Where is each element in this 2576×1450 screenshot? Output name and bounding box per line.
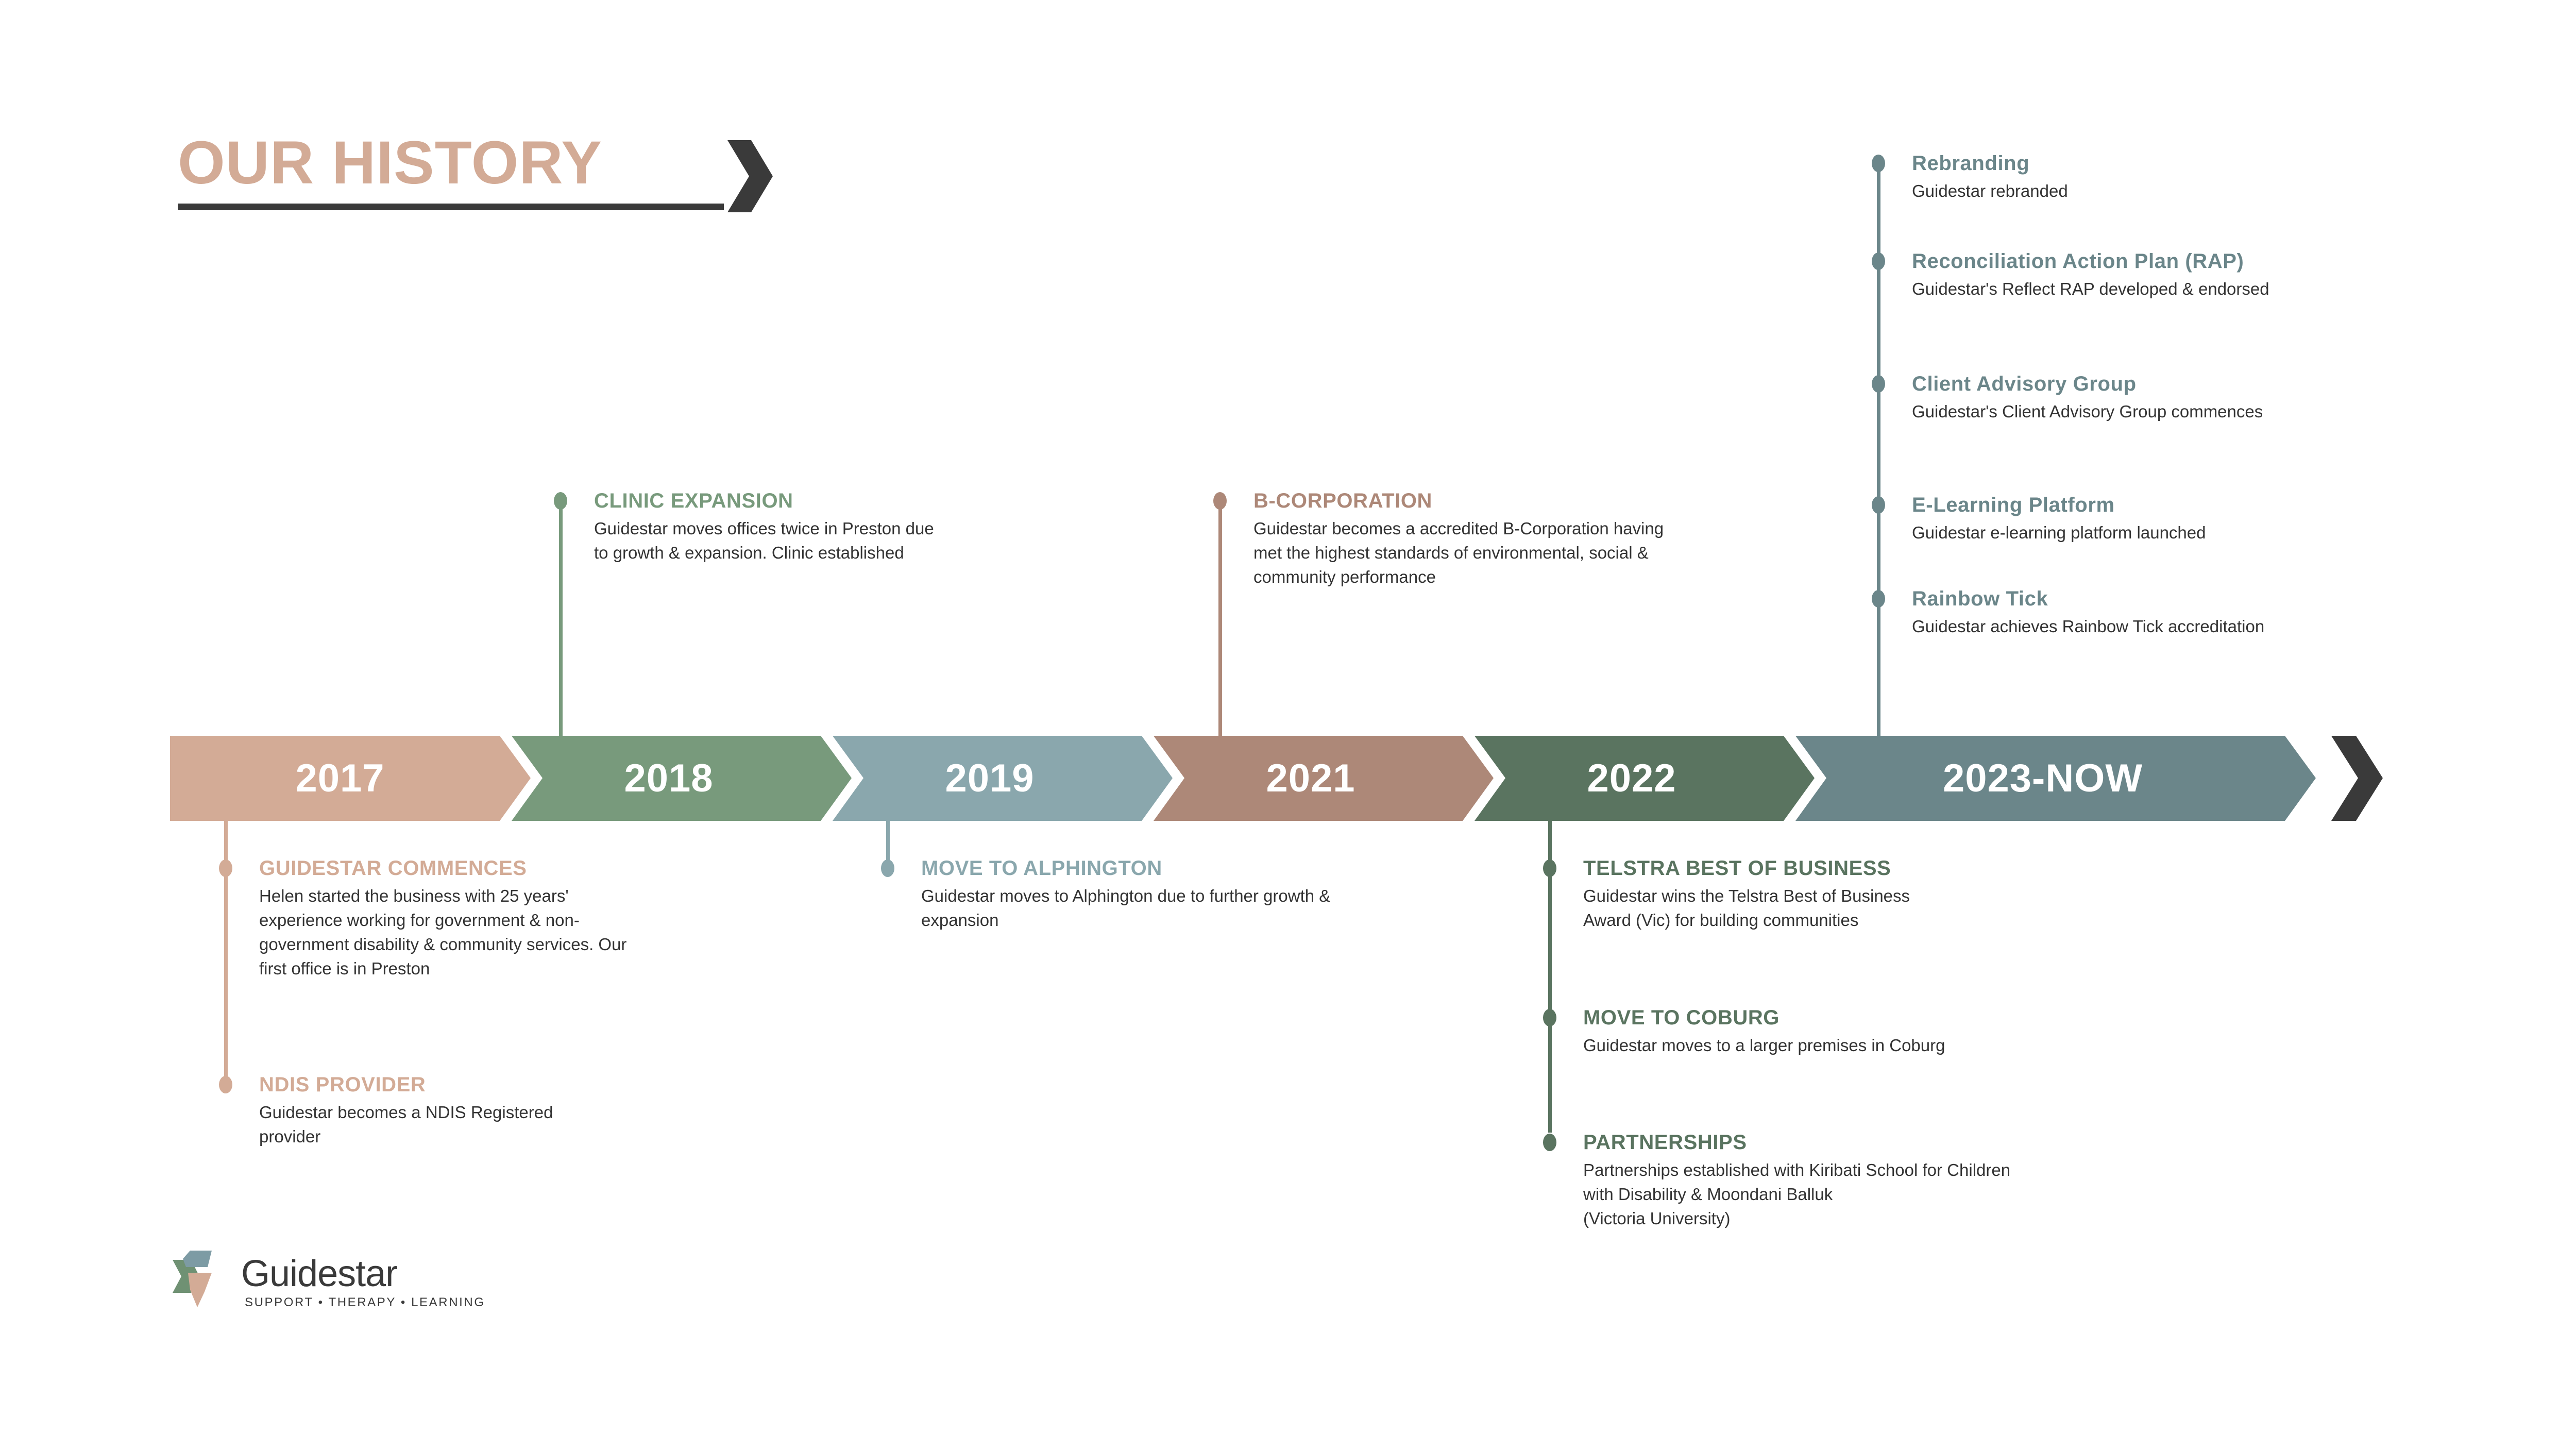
timeline-segment-2023-now[interactable]: 2023-NOW xyxy=(1775,736,2316,821)
timeline-year-label: 2019 xyxy=(945,756,1034,801)
page-title: OUR HISTORY xyxy=(178,131,602,195)
logo-tagline: SUPPORT • THERAPY • LEARNING xyxy=(245,1295,485,1310)
timeline-dot xyxy=(1872,590,1885,608)
event-description: Guidestar becomes a NDIS Registered prov… xyxy=(259,1101,579,1149)
title-underline xyxy=(178,204,724,210)
event-description: Partnerships established with Kiribati S… xyxy=(1583,1158,2011,1231)
timeline-bar: 2017 2018 2019 2021 2022 xyxy=(170,736,2437,821)
timeline-dot xyxy=(1872,496,1885,514)
logo-wordmark: Guidestar xyxy=(241,1253,397,1295)
timeline-segment-2017[interactable]: 2017 xyxy=(170,736,531,821)
guidestar-logo: Guidestar SUPPORT • THERAPY • LEARNING xyxy=(173,1250,492,1317)
event-title: MOVE TO ALPHINGTON xyxy=(921,857,1162,880)
event-title: Reconciliation Action Plan (RAP) xyxy=(1912,250,2244,273)
timeline-dot xyxy=(1543,1134,1556,1151)
timeline-dot xyxy=(1543,859,1556,877)
connector-line xyxy=(1548,1024,1552,1133)
event-title: Rebranding xyxy=(1912,152,2029,175)
timeline-dot xyxy=(219,1076,232,1093)
chevron-right-icon xyxy=(721,140,778,212)
event-title: Rainbow Tick xyxy=(1912,587,2048,611)
event-title: B-CORPORATION xyxy=(1253,490,1432,513)
connector-line xyxy=(559,501,563,746)
star-logo-icon xyxy=(173,1250,234,1311)
timeline-dot xyxy=(554,492,567,510)
connector-line xyxy=(224,875,228,1078)
event-title: CLINIC EXPANSION xyxy=(594,490,793,513)
timeline-year-label: 2023-NOW xyxy=(1943,756,2143,801)
event-description: Guidestar becomes a accredited B-Corpora… xyxy=(1253,517,1666,589)
event-description: Guidestar e-learning platform launched xyxy=(1912,521,2396,545)
event-title: GUIDESTAR COMMENCES xyxy=(259,857,527,880)
timeline-dot xyxy=(1543,1009,1556,1026)
event-title: MOVE TO COBURG xyxy=(1583,1006,1780,1030)
timeline-dot xyxy=(881,859,894,877)
page-header: OUR HISTORY xyxy=(178,131,762,224)
event-description: Guidestar achieves Rainbow Tick accredit… xyxy=(1912,615,2303,639)
connector-line xyxy=(1877,164,1880,746)
timeline-year-label: 2021 xyxy=(1266,756,1355,801)
connector-line xyxy=(1548,875,1552,1011)
infographic-canvas: OUR HISTORY 2017 2018 2019 xyxy=(0,0,2576,1450)
event-title: E-Learning Platform xyxy=(1912,494,2115,517)
event-description: Guidestar's Reflect RAP developed & endo… xyxy=(1912,277,2324,301)
event-description: Helen started the business with 25 years… xyxy=(259,884,651,981)
event-title: NDIS PROVIDER xyxy=(259,1073,426,1097)
timeline-segment-2022[interactable]: 2022 xyxy=(1454,736,1815,821)
event-description: Guidestar moves offices twice in Preston… xyxy=(594,517,944,565)
event-description: Guidestar moves to a larger premises in … xyxy=(1583,1034,2011,1058)
timeline-segment-2021[interactable]: 2021 xyxy=(1133,736,1494,821)
timeline-endcap-chevron-icon xyxy=(2326,736,2388,821)
timeline-dot xyxy=(219,859,232,877)
connector-line xyxy=(1218,501,1222,746)
event-title: Client Advisory Group xyxy=(1912,373,2137,396)
timeline-dot xyxy=(1213,492,1227,510)
timeline-segment-2019[interactable]: 2019 xyxy=(812,736,1173,821)
timeline-dot xyxy=(1872,252,1885,270)
event-description: Guidestar's Client Advisory Group commen… xyxy=(1912,400,2303,424)
timeline-segment-2018[interactable]: 2018 xyxy=(491,736,852,821)
event-title: PARTNERSHIPS xyxy=(1583,1131,1747,1154)
event-title: TELSTRA BEST OF BUSINESS xyxy=(1583,857,1891,880)
timeline-dot xyxy=(1872,375,1885,393)
event-description: Guidestar moves to Alphington due to fur… xyxy=(921,884,1359,933)
timeline-year-label: 2017 xyxy=(295,756,384,801)
timeline-dot xyxy=(1872,155,1885,172)
timeline-year-label: 2022 xyxy=(1587,756,1676,801)
event-description: Guidestar rebranded xyxy=(1912,179,2396,204)
timeline-year-label: 2018 xyxy=(624,756,713,801)
event-description: Guidestar wins the Telstra Best of Busin… xyxy=(1583,884,1954,933)
